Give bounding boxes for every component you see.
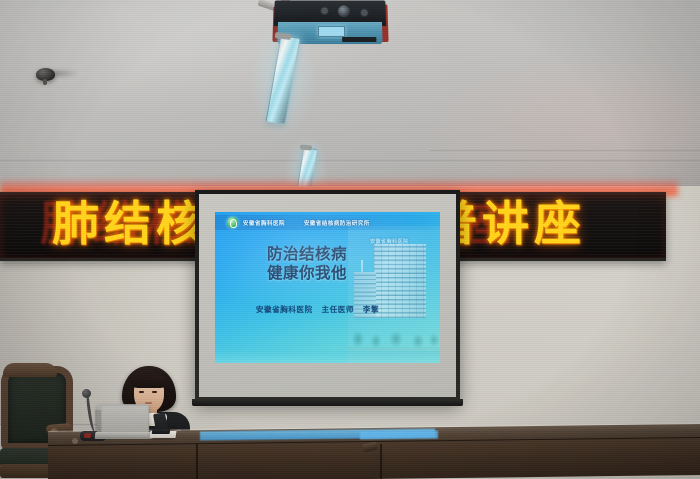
- slide-byline: 安徽省胸科医院 主任医师 李擎: [225, 304, 410, 315]
- led-banner-text-right: 普讲座: [430, 196, 666, 254]
- ceiling-seam: [430, 150, 700, 151]
- laptop-screen-back: [102, 406, 148, 432]
- laptop-keyboard-base[interactable]: [95, 432, 154, 439]
- laptop[interactable]: [95, 404, 151, 439]
- presentation-slide: 安徽省胸科医院 安徽省胸科医院 安徽省结核病防治研究所 防治结核病 健康你我他 …: [215, 212, 440, 363]
- ceiling-seam: [0, 160, 700, 161]
- desk-panel-seam: [196, 444, 198, 479]
- presenter-eye-left: [139, 391, 144, 393]
- projection-screen-bottom-bar: [192, 399, 463, 406]
- slide-byline-role: 主任医师: [322, 304, 354, 315]
- conference-room-photo: 肺结核防治科普讲座 肺结核 普讲座 安徽省胸科医院 安徽省胸科医院 安徽省结核病…: [0, 0, 700, 479]
- desk-panel-seam: [380, 444, 382, 479]
- smartphone[interactable]: [152, 429, 171, 434]
- projector-lens-icon: [338, 5, 350, 17]
- desk-leveling-foot: [72, 438, 78, 444]
- building-trees: [348, 321, 440, 349]
- projector-vent: [342, 37, 376, 42]
- projector-status-display: [318, 26, 345, 37]
- slide-byline-affiliation: 安徽省胸科医院: [256, 304, 313, 315]
- hospital-logo-icon: [227, 217, 238, 228]
- presenter-fringe: [130, 374, 168, 388]
- slide-footer-bar: [215, 351, 440, 363]
- slide-header-org-left: 安徽省胸科医院: [243, 219, 285, 227]
- projector-knob[interactable]: [320, 6, 329, 15]
- slide-title: 防治结核病 健康你我他: [237, 245, 377, 283]
- desk-screen-reflection: [360, 431, 438, 440]
- laptop-hinge: [95, 410, 101, 434]
- microphone-capsule-icon: [82, 389, 91, 398]
- slide-title-line-2: 健康你我他: [237, 264, 377, 283]
- presenter-eye-right: [152, 391, 157, 393]
- slide-header-org-right: 安徽省结核病防治研究所: [304, 219, 370, 227]
- slide-title-line-1: 防治结核病: [237, 245, 377, 264]
- ceiling-dome-stem: [43, 79, 47, 85]
- chair-crest-rail: [3, 363, 57, 377]
- laptop-lid: [97, 404, 149, 434]
- projector-knob[interactable]: [360, 8, 369, 17]
- microphone-talk-button[interactable]: [84, 433, 91, 438]
- slide-header-bar: 安徽省胸科医院 安徽省结核病防治研究所: [215, 215, 440, 230]
- slide-byline-speaker: 李擎: [363, 304, 379, 315]
